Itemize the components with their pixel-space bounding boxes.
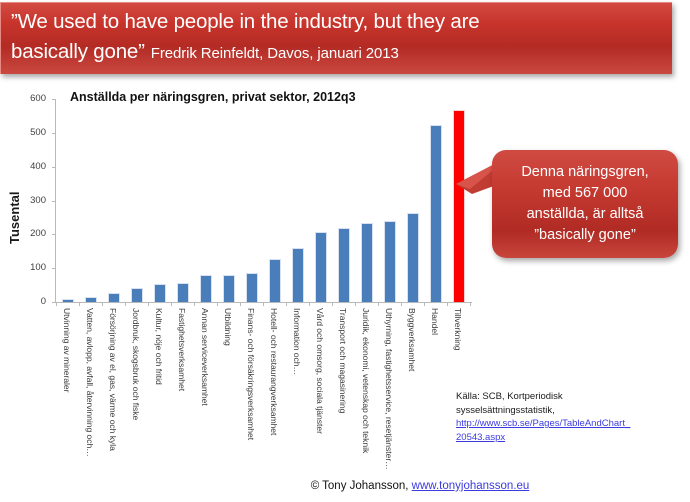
- callout-line-3: anställda, är alltså: [521, 204, 648, 225]
- bar: [338, 228, 350, 302]
- source-link[interactable]: http://www.scb.se/Pages/TableAndChart_20…: [456, 418, 630, 443]
- x-tick-mark: [424, 302, 425, 306]
- y-tick-label: 400: [20, 161, 46, 172]
- x-axis-label: Information och…: [292, 308, 302, 375]
- source-line-2: sysselsättningsstatistik,: [456, 404, 666, 418]
- bar: [269, 259, 281, 302]
- source-link-line-2: 20543.aspx: [456, 432, 505, 443]
- bar: [223, 275, 235, 302]
- y-tick-label: 300: [20, 195, 46, 206]
- footer: © Tony Johansson, www.tonyjohansson.eu: [0, 480, 690, 492]
- x-tick-mark: [309, 302, 310, 306]
- bar: [177, 283, 189, 302]
- callout-line-4: ”basically gone”: [521, 225, 648, 246]
- x-axis-label: Annan serviceverksamhet: [200, 308, 210, 406]
- quote-line-2: basically gone”Fredrik Reinfeldt, Davos,…: [11, 37, 662, 69]
- bar: [85, 297, 97, 302]
- x-tick-mark: [102, 302, 103, 306]
- quote-attribution: Fredrik Reinfeldt, Davos, januari 2013: [151, 45, 399, 62]
- callout-line-2: med 567 000: [521, 183, 648, 204]
- bar: [315, 232, 327, 302]
- bar: [62, 299, 74, 302]
- x-tick-mark: [447, 302, 448, 306]
- bar: [246, 273, 258, 302]
- x-tick-mark: [401, 302, 402, 306]
- bar: [108, 293, 120, 302]
- x-axis-label: Handel: [430, 308, 440, 335]
- x-axis-label: Finans- och försäkringsverksamhet: [246, 308, 256, 440]
- footer-copyright: © Tony Johansson,: [311, 480, 409, 492]
- x-axis-label: Vård och omsorg, sociala tjänster: [315, 308, 325, 434]
- x-tick-mark: [217, 302, 218, 306]
- quote-banner: ”We used to have people in the industry,…: [0, 2, 672, 74]
- bar: [200, 275, 212, 302]
- x-tick-mark: [355, 302, 356, 306]
- y-tick-label: 500: [20, 127, 46, 138]
- x-tick-mark: [171, 302, 172, 306]
- callout-bubble: Denna näringsgren, med 567 000 anställda…: [492, 150, 678, 258]
- x-axis-label: Kultur, nöje och fritid: [154, 308, 164, 385]
- x-tick-mark: [332, 302, 333, 306]
- x-axis-label: Jordbruk, skogsbruk och fiske: [131, 308, 141, 420]
- source-note: Källa: SCB, Kortperiodisk sysselsättning…: [456, 390, 666, 444]
- quote-line-1: ”We used to have people in the industry,…: [11, 7, 662, 37]
- bar-series: [56, 96, 470, 302]
- x-axis-label: Byggverksamhet: [407, 308, 417, 371]
- x-tick-mark: [286, 302, 287, 306]
- y-tick-label: 100: [20, 262, 46, 273]
- x-tick-mark: [148, 302, 149, 306]
- x-axis-label: Vatten, avlopp, avfall, återvinning och…: [85, 308, 95, 457]
- callout-line-1: Denna näringsgren,: [521, 162, 648, 183]
- footer-website-link[interactable]: www.tonyjohansson.eu: [412, 480, 530, 492]
- x-tick-mark: [263, 302, 264, 306]
- bar: [407, 213, 419, 302]
- x-axis-label: Uthyrning, fastighetsservice, resetjänst…: [384, 308, 394, 470]
- y-tick-label: 600: [20, 93, 46, 104]
- x-tick-mark: [240, 302, 241, 306]
- bar: [154, 284, 166, 302]
- source-line-1: Källa: SCB, Kortperiodisk: [456, 390, 666, 404]
- bar: [453, 110, 465, 302]
- x-axis-label: Hotell- och restaurangverksamhet: [269, 308, 279, 435]
- quote-line-2-text: basically gone”: [11, 40, 145, 63]
- x-axis-label: Försörjning av el, gas, värme och kyla: [108, 308, 118, 451]
- x-axis-label: Fastighetsverksamhet: [177, 308, 187, 391]
- x-tick-mark: [79, 302, 80, 306]
- x-axis-label: Utbildning: [223, 308, 233, 346]
- x-axis-label: Juridik, ekonomi, vetenskap och teknik: [361, 308, 371, 453]
- x-tick-mark: [470, 302, 471, 306]
- x-axis-label: Utvinning av mineraler: [62, 308, 72, 392]
- x-tick-mark: [125, 302, 126, 306]
- x-tick-mark: [56, 302, 57, 306]
- x-tick-mark: [378, 302, 379, 306]
- y-tick-label: 200: [20, 228, 46, 239]
- bar: [131, 288, 143, 302]
- x-tick-mark: [194, 302, 195, 306]
- x-axis-label: Transport och magasinering: [338, 308, 348, 413]
- source-link-line-1: http://www.scb.se/Pages/TableAndChart: [456, 418, 625, 429]
- bar: [430, 125, 442, 302]
- y-tick-label: 0: [20, 296, 46, 307]
- bar: [384, 221, 396, 302]
- bar: [292, 248, 304, 302]
- x-axis-label: Tillverkning: [453, 308, 463, 351]
- bar: [361, 223, 373, 303]
